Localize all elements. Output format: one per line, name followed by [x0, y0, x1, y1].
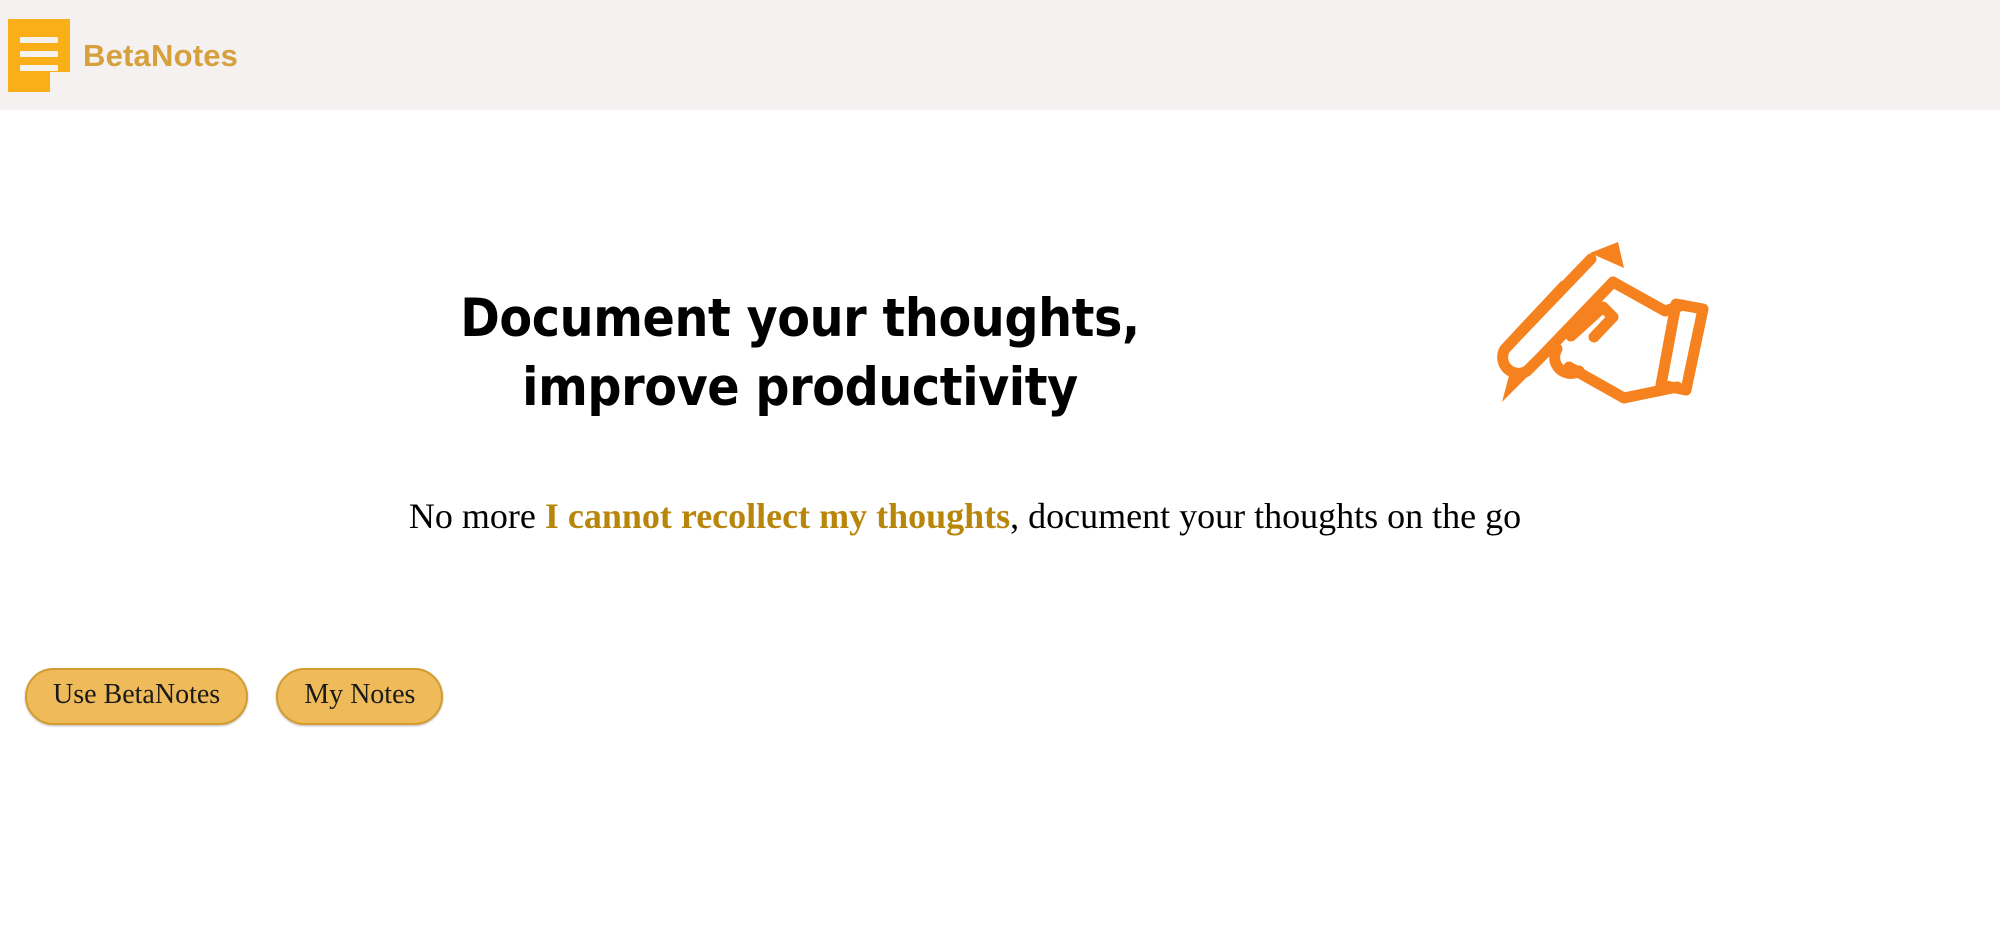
hero-section: Document your thoughts, improve producti…	[0, 110, 2000, 938]
page-title: Document your thoughts, improve producti…	[360, 285, 1240, 423]
brand-name: BetaNotes	[83, 40, 238, 71]
hand-holding-pencil-icon	[1472, 220, 1712, 420]
hero-subtitle: No more I cannot recollect my thoughts, …	[0, 495, 1930, 538]
my-notes-button[interactable]: My Notes	[276, 668, 443, 725]
hero-action-buttons: Use BetaNotes My Notes	[25, 668, 443, 725]
brand-logo-link[interactable]: BetaNotes	[6, 16, 238, 94]
note-lines-icon	[6, 16, 72, 94]
subtitle-highlight: I cannot recollect my thoughts	[545, 496, 1010, 536]
subtitle-text-before: No more	[409, 496, 545, 536]
use-betanotes-button[interactable]: Use BetaNotes	[25, 668, 248, 725]
subtitle-text-after: , document your thoughts on the go	[1010, 496, 1521, 536]
site-header: BetaNotes	[0, 0, 2000, 110]
